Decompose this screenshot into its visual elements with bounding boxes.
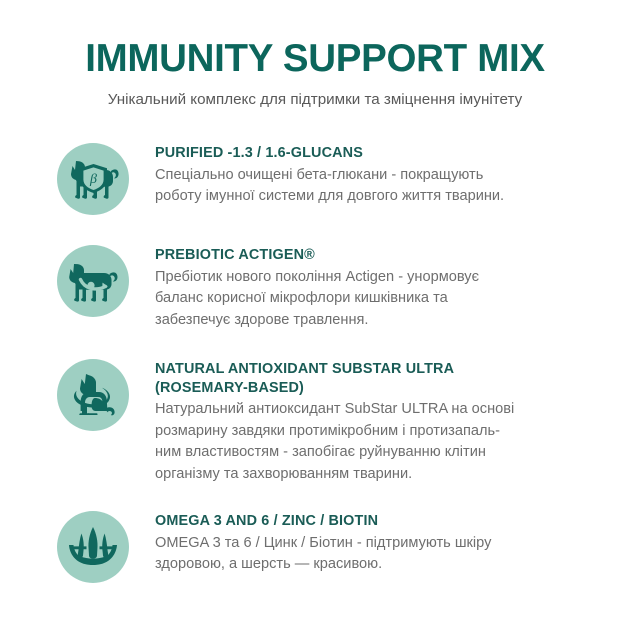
dog-digestion-arrow-icon	[57, 245, 129, 317]
svg-text:β: β	[89, 172, 97, 187]
header: IMMUNITY SUPPORT MIX Унікальний комплекс…	[0, 0, 630, 111]
feature-title: PREBIOTIC ACTIGEN®	[155, 246, 479, 265]
list-item: OMEGA 3 AND 6 / ZINC / BIOTIN OMEGA 3 та…	[57, 511, 620, 583]
page-subtitle: Унікальний комплекс для підтримки та змі…	[0, 89, 630, 111]
feature-text: OMEGA 3 AND 6 / ZINC / BIOTIN OMEGA 3 та…	[155, 511, 491, 576]
list-item: NATURAL ANTIOXIDANT SUBSTAR ULTRA (ROSEM…	[57, 359, 620, 485]
feature-text: NATURAL ANTIOXIDANT SUBSTAR ULTRA (ROSEM…	[155, 359, 514, 485]
feature-text: PREBIOTIC ACTIGEN® Пребіотик нового поко…	[155, 245, 479, 331]
product-benefits-panel: IMMUNITY SUPPORT MIX Унікальний комплекс…	[0, 0, 630, 630]
feature-body: Спеціально очищені бета-глюкани - покращ…	[155, 165, 504, 208]
hair-follicles-skin-icon	[57, 511, 129, 583]
page-title: IMMUNITY SUPPORT MIX	[0, 38, 630, 80]
feature-title: PURIFIED -1.3 / 1.6-GLUCANS	[155, 144, 504, 163]
sitting-dog-orbit-icon	[57, 359, 129, 431]
feature-body: OMEGA 3 та 6 / Цинк / Біотин - підтримую…	[155, 533, 491, 576]
feature-title: NATURAL ANTIOXIDANT SUBSTAR ULTRA (ROSEM…	[155, 360, 514, 397]
feature-text: PURIFIED -1.3 / 1.6-GLUCANS Спеціально о…	[155, 143, 504, 208]
dog-shield-beta-icon: β	[57, 143, 129, 215]
feature-body: Натуральний антиоксидант SubStar ULTRA н…	[155, 399, 514, 485]
list-item: β PURIFIED -1.3 / 1.6-GLUCANS Спеціально…	[57, 143, 620, 215]
feature-list: β PURIFIED -1.3 / 1.6-GLUCANS Спеціально…	[0, 143, 630, 583]
list-item: PREBIOTIC ACTIGEN® Пребіотик нового поко…	[57, 245, 620, 331]
feature-title: OMEGA 3 AND 6 / ZINC / BIOTIN	[155, 512, 491, 531]
feature-body: Пребіотик нового покоління Actigen - уно…	[155, 267, 479, 332]
